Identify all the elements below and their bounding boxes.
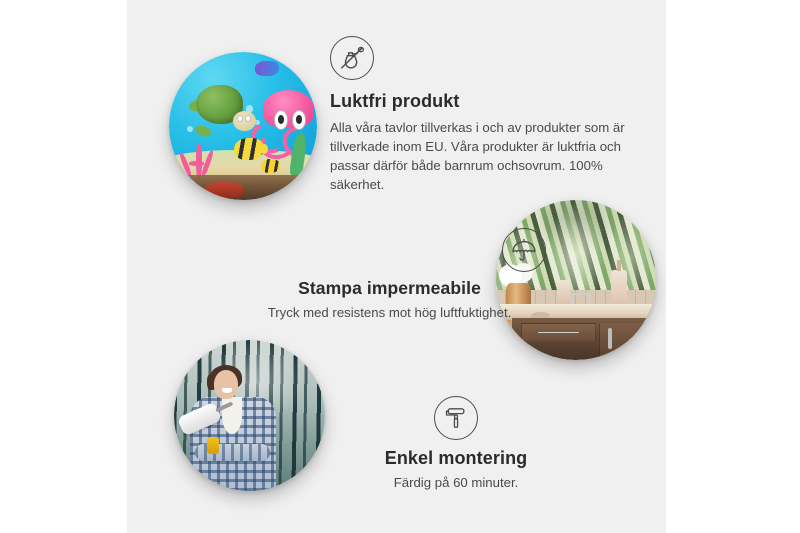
screenshot-root: Luktfri produkt Alla våra tavlor tillver… bbox=[0, 0, 800, 533]
masking-tape bbox=[207, 437, 219, 454]
feature-block-easy-install: Enkel montering Färdig på 60 minuter. bbox=[330, 396, 582, 492]
woman-figure bbox=[186, 367, 280, 491]
feature-block-waterproof: Stampa impermeabile Tryck med resistens … bbox=[217, 228, 562, 322]
feature-title: Enkel montering bbox=[330, 448, 582, 470]
content-panel: Luktfri produkt Alla våra tavlor tillver… bbox=[127, 0, 666, 533]
no-odor-spray-bottle-icon bbox=[330, 36, 374, 80]
feature-body: Färdig på 60 minuter. bbox=[330, 473, 582, 492]
sea-turtle bbox=[191, 82, 256, 132]
woman-paint-roller-forest-photo bbox=[174, 340, 325, 491]
feature-body: Alla våra tavlor tillverkas i och av pro… bbox=[330, 118, 630, 195]
feature-body: Tryck med resistens mot hög luftfuktighe… bbox=[217, 303, 562, 322]
sea-bottom-strip bbox=[169, 175, 317, 200]
feature-block-odorless: Luktfri produkt Alla våra tavlor tillver… bbox=[330, 36, 630, 194]
underwater-cartoon-photo bbox=[169, 52, 317, 200]
feature-title: Stampa impermeabile bbox=[217, 278, 562, 299]
umbrella-icon bbox=[502, 228, 546, 272]
striped-fish bbox=[234, 138, 264, 160]
purple-fish bbox=[255, 61, 279, 76]
wooden-vanity bbox=[512, 318, 656, 360]
feature-title: Luktfri produkt bbox=[330, 91, 630, 113]
coral bbox=[178, 135, 222, 179]
paint-roller-icon bbox=[434, 396, 478, 440]
